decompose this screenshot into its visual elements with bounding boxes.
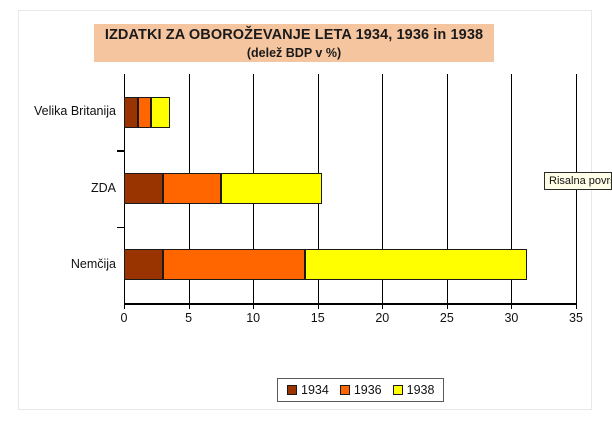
x-axis-tick-label: 5 <box>169 311 209 325</box>
plot-area-tooltip: Risalna površina <box>544 172 612 190</box>
x-axis-tick-label: 15 <box>298 311 338 325</box>
x-axis-tick-label: 35 <box>556 311 596 325</box>
bar-segment[interactable] <box>124 97 138 128</box>
legend-item[interactable]: 1934 <box>287 383 329 397</box>
y-axis-tick <box>117 150 124 152</box>
legend-label: 1934 <box>301 383 329 397</box>
x-axis-tick <box>124 303 125 309</box>
x-axis-tick <box>318 303 319 309</box>
legend-swatch-icon <box>340 385 350 395</box>
x-axis-tick <box>447 303 448 309</box>
bar-segment[interactable] <box>151 97 170 128</box>
bar-segment[interactable] <box>163 249 305 280</box>
bar-segment[interactable] <box>221 173 322 204</box>
x-axis-tick <box>253 303 254 309</box>
x-axis-tick-label: 30 <box>491 311 531 325</box>
bar-segment[interactable] <box>163 173 221 204</box>
chart-title-line1: IZDATKI ZA OBOROŽEVANJE LETA 1934, 1936 … <box>94 26 494 44</box>
legend-swatch-icon <box>287 385 297 395</box>
bar-segment[interactable] <box>305 249 527 280</box>
legend-label: 1938 <box>407 383 435 397</box>
x-axis-tick-label: 25 <box>427 311 467 325</box>
legend-item[interactable]: 1938 <box>393 383 435 397</box>
legend-label: 1936 <box>354 383 382 397</box>
y-axis-category-label: ZDA <box>91 181 116 195</box>
chart-container: IZDATKI ZA OBOROŽEVANJE LETA 1934, 1936 … <box>0 0 612 426</box>
x-axis-tick-label: 10 <box>233 311 273 325</box>
y-axis-category-label: Nemčija <box>71 257 116 271</box>
bar-segment[interactable] <box>138 97 151 128</box>
chart-legend: 193419361938 <box>277 378 444 402</box>
y-axis-tick <box>117 227 124 229</box>
y-axis-category-label: Velika Britanija <box>34 104 116 118</box>
x-axis-line <box>124 303 577 305</box>
x-axis-tick <box>576 303 577 309</box>
x-axis-tick <box>382 303 383 309</box>
chart-title-line2: (delež BDP v %) <box>94 44 494 62</box>
x-axis-tick-label: 20 <box>362 311 402 325</box>
x-axis-tick-label: 0 <box>104 311 144 325</box>
legend-swatch-icon <box>393 385 403 395</box>
x-axis-tick <box>511 303 512 309</box>
bar-segment[interactable] <box>124 173 163 204</box>
legend-item[interactable]: 1936 <box>340 383 382 397</box>
x-axis-tick <box>189 303 190 309</box>
chart-title: IZDATKI ZA OBOROŽEVANJE LETA 1934, 1936 … <box>94 24 494 62</box>
bar-segment[interactable] <box>124 249 163 280</box>
